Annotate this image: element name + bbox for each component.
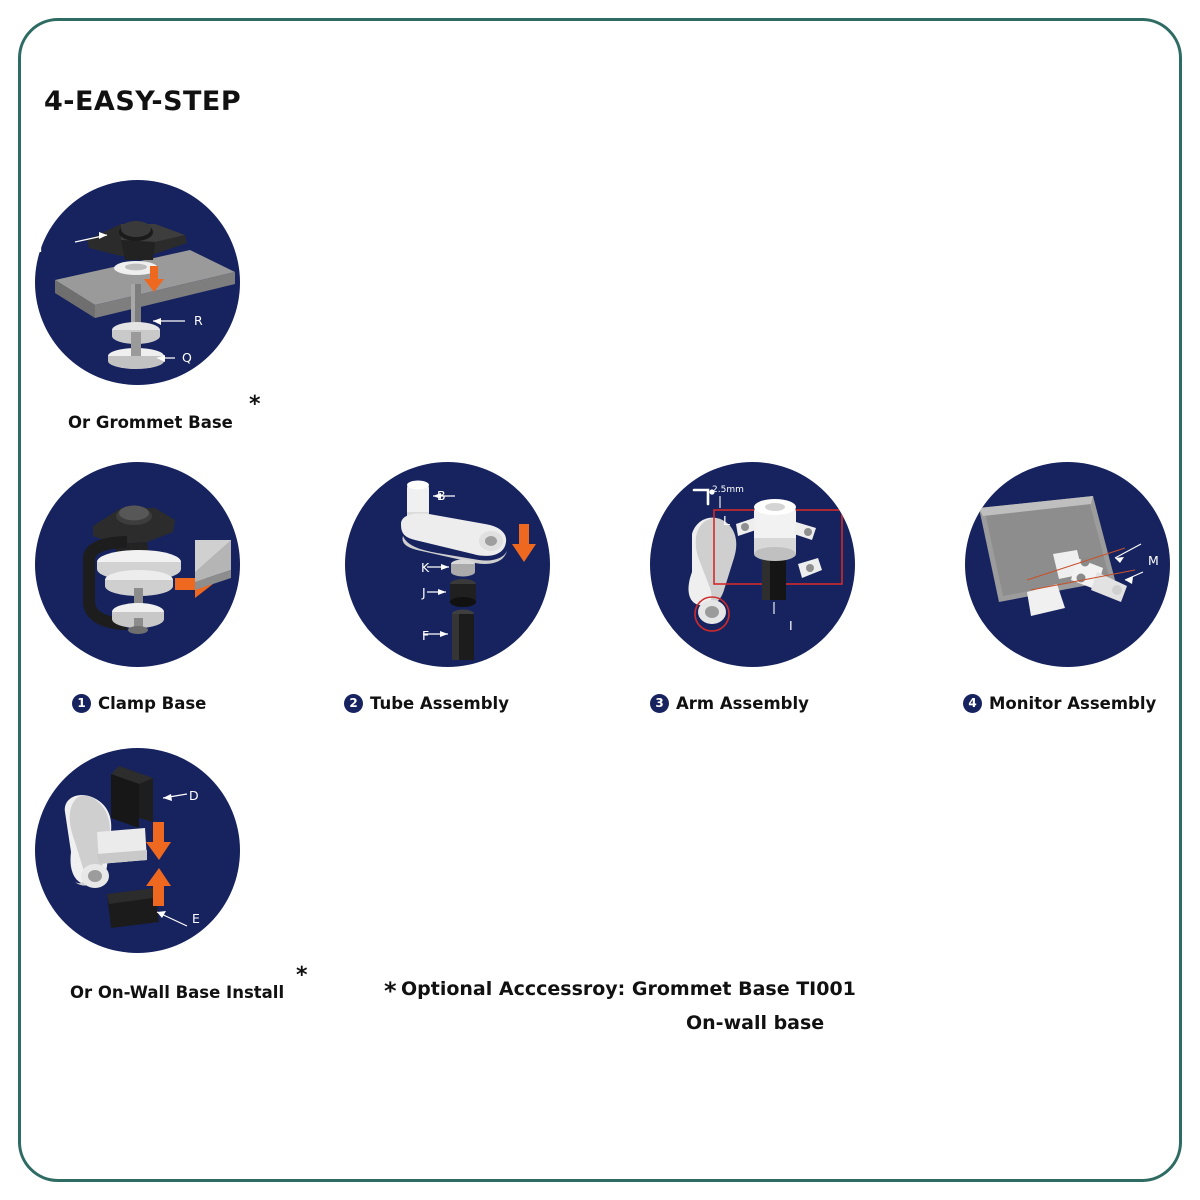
label-N: N xyxy=(33,240,42,255)
label-J: J xyxy=(422,585,426,600)
step-number-3: 3 xyxy=(650,694,669,713)
label-2-5mm: 2.5mm xyxy=(712,485,744,495)
label-K: K xyxy=(421,560,429,575)
label-L: L xyxy=(723,513,730,528)
caption-clamp-base-text: Clamp Base xyxy=(98,694,206,713)
label-D: D xyxy=(189,788,199,803)
label-E: E xyxy=(192,911,200,926)
caption-monitor-assembly: 4Monitor Assembly xyxy=(963,694,1156,713)
poster-page: 4-EASY-STEP xyxy=(0,0,1200,1200)
caption-arm-assembly: 3Arm Assembly xyxy=(650,694,809,713)
caption-tube-assembly: 2Tube Assembly xyxy=(344,694,509,713)
page-title: 4-EASY-STEP xyxy=(44,86,241,117)
panel-arm-assembly xyxy=(650,462,855,667)
caption-monitor-assembly-text: Monitor Assembly xyxy=(989,694,1156,713)
caption-arm-assembly-text: Arm Assembly xyxy=(676,694,809,713)
panel-grommet-base xyxy=(35,180,240,385)
caption-grommet-base: Or Grommet Base xyxy=(68,413,233,432)
footnote-line-2: On-wall base xyxy=(686,1012,824,1034)
footnote-line-1: Optional Acccessroy: Grommet Base TI001 xyxy=(401,978,856,1000)
star-grommet-base: * xyxy=(249,392,261,417)
label-M: M xyxy=(1148,553,1159,568)
caption-on-wall-base-text: Or On-Wall Base Install xyxy=(70,983,284,1002)
label-Q: Q xyxy=(182,350,192,365)
label-B: B xyxy=(437,488,446,503)
panel-monitor-assembly xyxy=(965,462,1170,667)
panel-clamp-base xyxy=(35,462,240,667)
caption-grommet-base-text: Or Grommet Base xyxy=(68,413,233,432)
step-number-2: 2 xyxy=(344,694,363,713)
label-R: R xyxy=(194,313,203,328)
footnote-star: * xyxy=(384,977,397,1005)
label-F: F xyxy=(422,628,429,643)
caption-clamp-base: 1Clamp Base xyxy=(72,694,206,713)
panel-on-wall-base xyxy=(35,748,240,953)
caption-on-wall-base: Or On-Wall Base Install xyxy=(70,983,284,1002)
panel-tube-assembly xyxy=(345,462,550,667)
step-number-4: 4 xyxy=(963,694,982,713)
caption-tube-assembly-text: Tube Assembly xyxy=(370,694,509,713)
step-number-1: 1 xyxy=(72,694,91,713)
star-on-wall-base: * xyxy=(296,963,308,988)
label-I: I xyxy=(789,618,793,633)
